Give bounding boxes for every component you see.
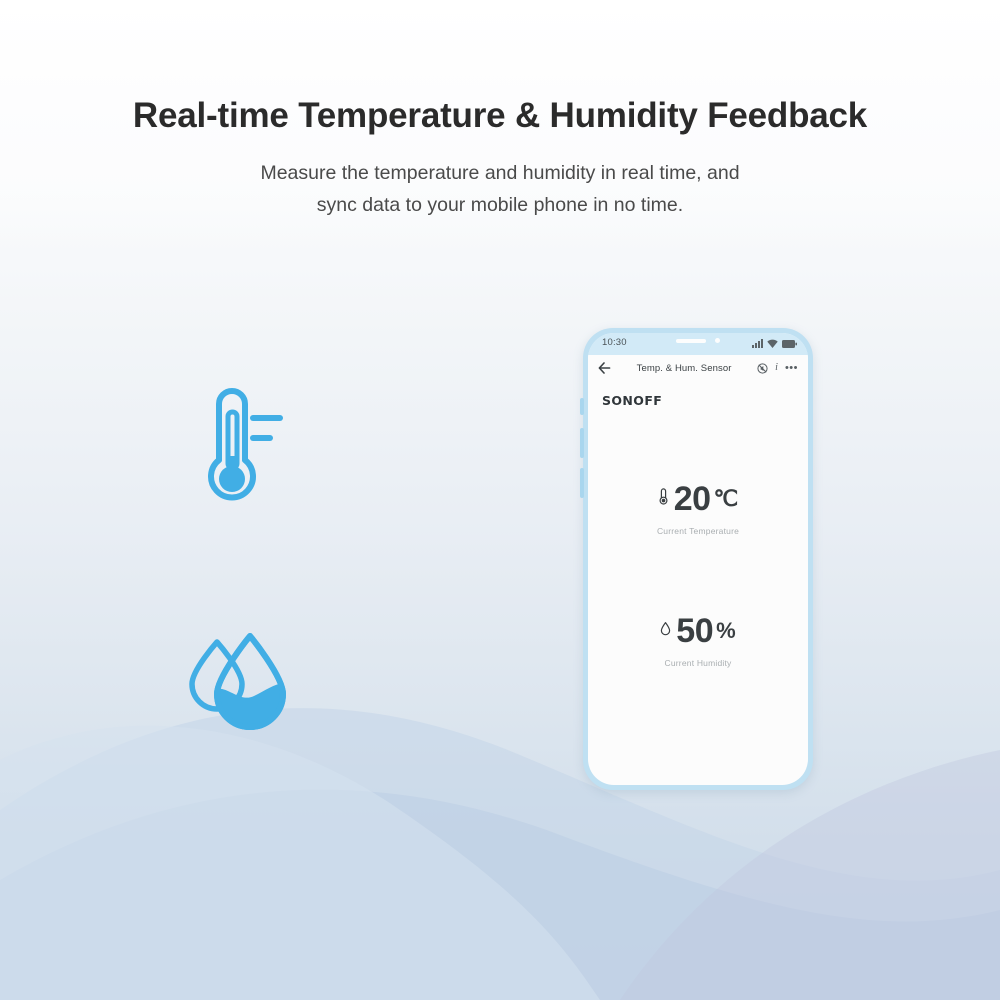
signal-icon: [752, 339, 763, 348]
promo-page: Real-time Temperature & Humidity Feedbac…: [0, 0, 1000, 1000]
phone-volume-down-button[interactable]: [580, 468, 584, 498]
phone-silent-switch[interactable]: [580, 398, 584, 415]
wifi-icon: [767, 339, 778, 348]
temperature-reading: 20 ℃ Current Temperature: [588, 482, 808, 536]
status-icons: [752, 339, 797, 348]
page-title: Real-time Temperature & Humidity Feedbac…: [0, 96, 1000, 136]
subtitle-line-1: Measure the temperature and humidity in …: [0, 158, 1000, 190]
phone-volume-up-button[interactable]: [580, 428, 584, 458]
no-sound-icon[interactable]: [757, 363, 768, 374]
front-camera: [715, 338, 720, 343]
thermometer-icon: [186, 382, 290, 518]
background-waves: [0, 580, 1000, 1000]
humidity-label: Current Humidity: [588, 658, 808, 668]
humidity-value: 50: [676, 614, 713, 648]
temperature-value-row: 20 ℃: [588, 482, 808, 516]
hero-text-block: Real-time Temperature & Humidity Feedbac…: [0, 96, 1000, 221]
phone-notch: [676, 338, 720, 343]
temperature-value: 20: [674, 482, 711, 516]
thermometer-glyph-icon: [658, 488, 669, 505]
page-subtitle: Measure the temperature and humidity in …: [0, 158, 1000, 221]
app-title: Temp. & Hum. Sensor: [611, 363, 757, 374]
phone-screen: 10:30: [588, 333, 808, 785]
humidity-value-row: 50 %: [588, 614, 808, 648]
temperature-label: Current Temperature: [588, 526, 808, 536]
subtitle-line-2: sync data to your mobile phone in no tim…: [0, 190, 1000, 222]
app-header: Temp. & Hum. Sensor i •••: [588, 355, 808, 381]
brand-row: SONOFF: [588, 381, 808, 410]
water-droplet-icon: [180, 618, 302, 740]
sonoff-logo: SONOFF: [602, 393, 662, 408]
more-options-icon[interactable]: •••: [785, 363, 798, 374]
status-time: 10:30: [602, 337, 627, 348]
droplet-glyph-icon: [660, 621, 671, 636]
earpiece-speaker: [676, 339, 706, 343]
back-arrow-icon[interactable]: [598, 362, 611, 374]
status-bar: 10:30: [588, 333, 808, 355]
battery-icon: [782, 340, 797, 348]
phone-mockup: 10:30: [583, 328, 813, 790]
app-header-actions: i •••: [757, 363, 798, 374]
info-icon[interactable]: i: [775, 363, 778, 373]
humidity-reading: 50 % Current Humidity: [588, 614, 808, 668]
temperature-unit: ℃: [714, 488, 739, 510]
humidity-unit: %: [716, 620, 736, 642]
